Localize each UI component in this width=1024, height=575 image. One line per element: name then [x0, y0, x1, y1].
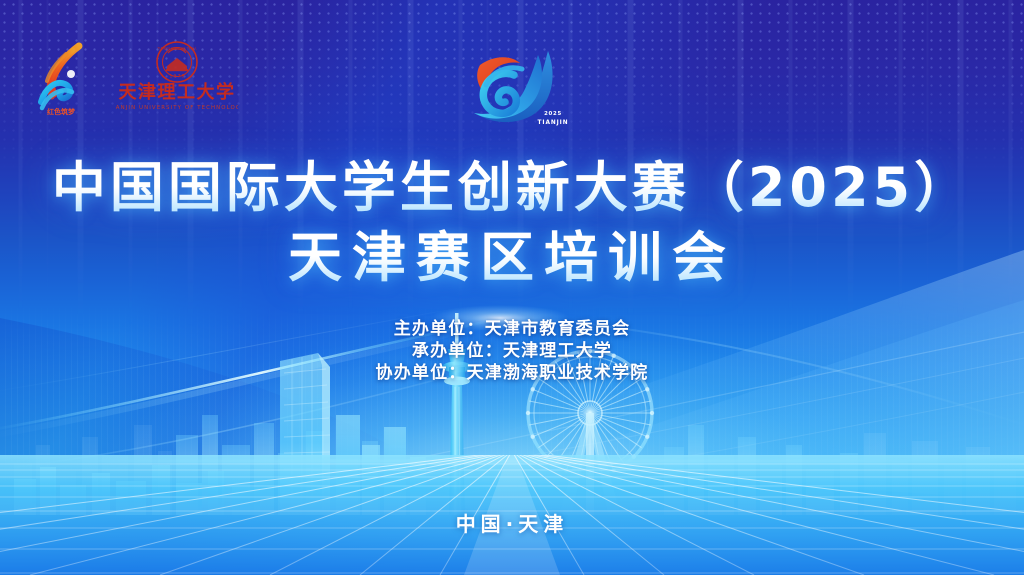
organizer-list: 主办单位：天津市教育委员会 承办单位：天津理工大学 协办单位：天津渤海职业技术学…	[0, 318, 1024, 384]
organizer-host: 主办单位：天津市教育委员会	[0, 318, 1024, 340]
title-line-2: 天津赛区培训会	[0, 226, 1024, 290]
organizer-undertaker: 承办单位：天津理工大学	[0, 340, 1024, 362]
poster-title: 中国国际大学生创新大赛（2025） 天津赛区培训会	[0, 156, 1024, 290]
svg-text:TIANJIN UNIV. OF TECH.: TIANJIN UNIV. OF TECH.	[156, 47, 196, 51]
svg-text:TIANJIN: TIANJIN	[538, 120, 569, 126]
organizer-co-host: 协办单位：天津渤海职业技术学院	[0, 362, 1024, 384]
poster-canvas: 红色筑梦 TIANJIN UNIV. OF TECH. 1 9 7 9 天津理工…	[0, 0, 1024, 575]
svg-text:2025: 2025	[544, 111, 562, 117]
partner-logos: 红色筑梦 TIANJIN UNIV. OF TECH. 1 9 7 9 天津理工…	[32, 40, 238, 116]
title-line-1: 中国国际大学生创新大赛（2025）	[0, 156, 1024, 220]
svg-text:1 9 7 9: 1 9 7 9	[170, 74, 185, 79]
svg-text:天津理工大学: 天津理工大学	[119, 81, 236, 103]
tianjin-university-of-technology-logo: TIANJIN UNIV. OF TECH. 1 9 7 9 天津理工大学 TI…	[116, 40, 238, 116]
location-label: 中国·天津	[0, 508, 1024, 537]
hongguang-logo: 红色筑梦	[32, 40, 90, 116]
svg-text:TIANJIN UNIVERSITY OF TECHNOLO: TIANJIN UNIVERSITY OF TECHNOLOGY	[116, 105, 238, 111]
svg-text:红色筑梦: 红色筑梦	[47, 107, 76, 116]
competition-2025-tianjin-logo: 2025 TIANJIN	[452, 45, 580, 133]
